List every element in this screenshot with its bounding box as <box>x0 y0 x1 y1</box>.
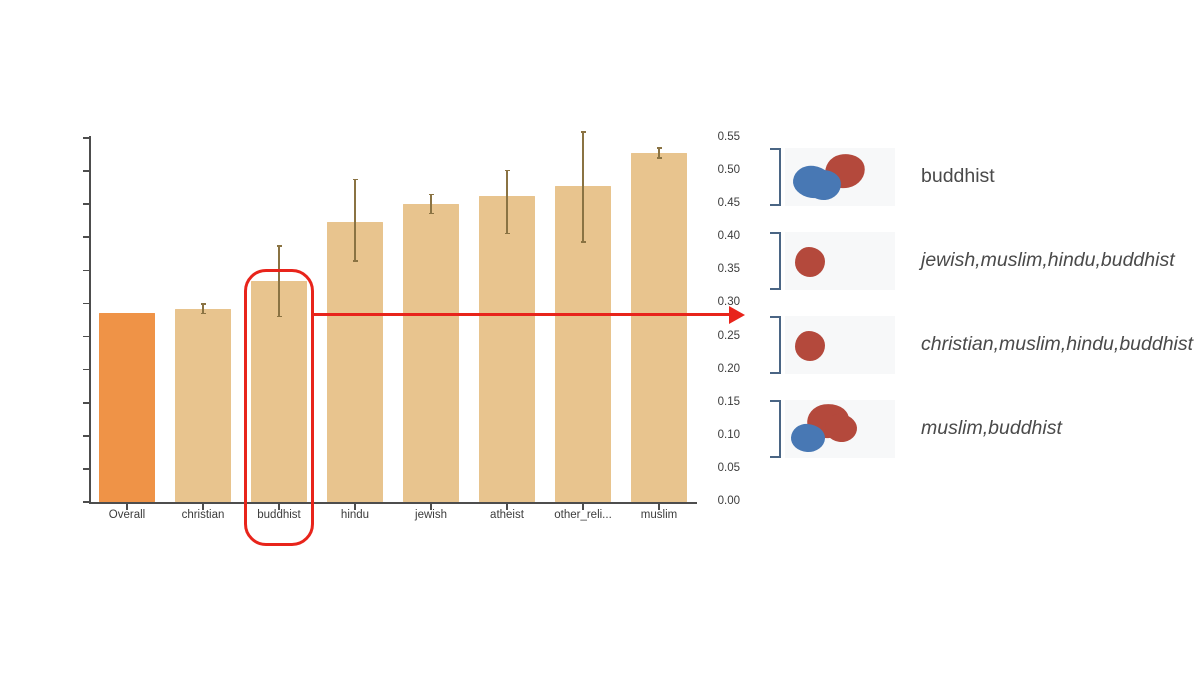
error-bar-cap <box>581 241 586 242</box>
error-bar <box>658 147 659 157</box>
error-bar-cap <box>201 313 206 314</box>
x-tick-label-muslim: muslim <box>641 509 677 521</box>
bracket-icon <box>770 400 781 458</box>
bracket-icon <box>770 232 781 290</box>
bar-christian[interactable] <box>175 309 231 502</box>
image-result-label: buddhist <box>921 165 995 188</box>
y-tick-label: 0.25 <box>698 331 740 343</box>
y-tick-mark <box>83 336 90 338</box>
y-tick-label: 0.35 <box>698 264 740 276</box>
y-tick-mark <box>83 236 90 238</box>
y-tick-label: 0.20 <box>698 364 740 376</box>
y-tick-mark <box>83 303 90 305</box>
y-tick-mark <box>83 270 90 272</box>
error-bar-cap <box>505 170 510 171</box>
bar-overall[interactable] <box>99 313 155 502</box>
image-result-row[interactable]: christian,muslim,hindu,buddhist <box>770 313 1190 376</box>
y-tick-label: 0.45 <box>698 198 740 210</box>
x-tick-label-overall: Overall <box>109 509 145 521</box>
bracket-icon <box>770 148 781 206</box>
bar-atheist[interactable] <box>479 196 535 502</box>
screenshot-root: 0.000.050.100.150.200.250.300.350.400.45… <box>0 0 1200 675</box>
error-bar-cap <box>201 303 206 304</box>
y-tick-label: 0.15 <box>698 397 740 409</box>
x-tick-label-atheist: atheist <box>490 509 524 521</box>
error-bar-cap <box>277 316 282 317</box>
x-tick-label-jewish: jewish <box>415 509 447 521</box>
thumbnail-blue-red-blob-cluster[interactable] <box>785 148 895 206</box>
y-tick-label: 0.00 <box>698 496 740 508</box>
x-axis-line <box>89 502 697 504</box>
x-tick-label-christian: christian <box>182 509 225 521</box>
annotation-arrow-line <box>314 313 729 316</box>
y-tick-mark <box>83 203 90 205</box>
thumbnail-red-blob-single[interactable] <box>785 316 895 374</box>
error-bar-cap <box>429 213 434 214</box>
error-bar <box>354 179 355 260</box>
blob-shape <box>795 247 825 277</box>
y-tick-label: 0.50 <box>698 165 740 177</box>
image-result-panel: buddhistjewish,muslim,hindu,buddhistchri… <box>770 145 1190 481</box>
bracket-icon <box>770 316 781 374</box>
y-tick-mark <box>83 170 90 172</box>
y-tick-mark <box>83 402 90 404</box>
y-tick-mark <box>83 369 90 371</box>
error-bar <box>582 131 583 241</box>
y-tick-label: 0.10 <box>698 430 740 442</box>
y-tick-label: 0.05 <box>698 463 740 475</box>
image-result-row[interactable]: buddhist <box>770 145 1190 208</box>
error-bar <box>278 245 279 316</box>
image-result-row[interactable]: muslim,buddhist <box>770 397 1190 460</box>
image-result-label: jewish,muslim,hindu,buddhist <box>921 249 1175 272</box>
thumbnail-red-blob-single[interactable] <box>785 232 895 290</box>
y-axis-line <box>89 136 91 504</box>
error-bar-cap <box>657 147 662 148</box>
y-tick-mark <box>83 435 90 437</box>
x-tick-label-other-reli-: other_reli... <box>554 509 612 521</box>
blob-shape <box>795 331 825 361</box>
error-bar-cap <box>353 179 358 180</box>
y-tick-mark <box>83 501 90 503</box>
error-bar <box>506 170 507 233</box>
thumbnail-red-blue-blob-cluster[interactable] <box>785 400 895 458</box>
error-bar-cap <box>353 260 358 261</box>
image-result-row[interactable]: jewish,muslim,hindu,buddhist <box>770 229 1190 292</box>
annotation-arrow-head <box>729 306 745 324</box>
y-tick-label: 0.40 <box>698 231 740 243</box>
x-tick-label-hindu: hindu <box>341 509 369 521</box>
bar-jewish[interactable] <box>403 204 459 502</box>
image-result-label: christian,muslim,hindu,buddhist <box>921 333 1193 356</box>
error-bar <box>430 194 431 213</box>
error-bar-cap <box>277 245 282 246</box>
x-tick-label-buddhist: buddhist <box>257 509 300 521</box>
error-bar-cap <box>429 194 434 195</box>
error-bar-cap <box>657 157 662 158</box>
bar-hindu[interactable] <box>327 222 383 502</box>
y-tick-label: 0.55 <box>698 132 740 144</box>
bar-muslim[interactable] <box>631 153 687 502</box>
y-tick-mark <box>83 137 90 139</box>
error-bar-cap <box>581 131 586 132</box>
y-tick-mark <box>83 468 90 470</box>
error-bar-cap <box>505 233 510 234</box>
bar-chart: 0.000.050.100.150.200.250.300.350.400.45… <box>0 0 740 675</box>
image-result-label: muslim,buddhist <box>921 417 1062 440</box>
